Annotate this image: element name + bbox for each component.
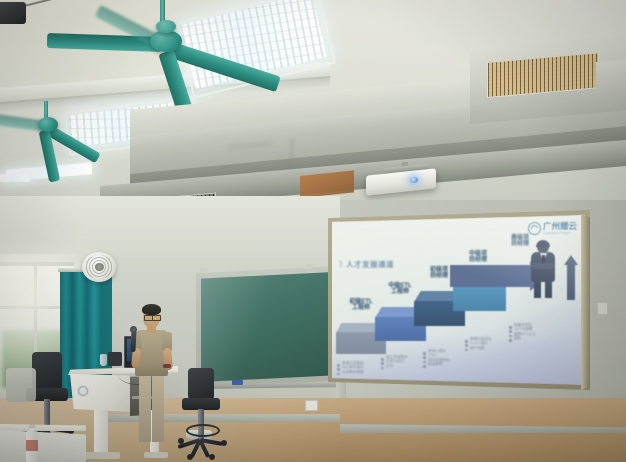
up-arrow-shaft (567, 264, 575, 300)
projector-lens-indicator (410, 177, 418, 183)
classroom-scene: 广州耀云 Guangzhou Yaoyun 》 人才发展通道 初级ETL工程师 … (0, 0, 626, 462)
up-arrow-icon (563, 255, 579, 301)
lectern-foot-right (144, 452, 168, 458)
silhouette-arms (531, 263, 555, 269)
silhouette-leg-left (534, 281, 541, 298)
chalkboard-clip-right (306, 264, 313, 269)
bullet-item: 交付 (386, 364, 422, 368)
chair-left-post (44, 399, 50, 427)
chair-right-caster (187, 454, 193, 460)
businessman-silhouette-icon (525, 241, 561, 299)
presenter-hair (142, 304, 161, 315)
right-arrow-shaft (450, 265, 532, 287)
slide-logo-cn: 广州耀云 (543, 222, 577, 231)
floor-bag (6, 368, 36, 402)
chair-right-caster (209, 454, 215, 460)
bullet-column-5: 统筹多项目 10个月周期 管理10人以上 团队 (514, 323, 554, 341)
chair-right-caster (178, 438, 184, 444)
bullet-column-2: 独立完成模块 开发与测试 交付 (386, 355, 422, 368)
chair-left-backrest (32, 352, 62, 390)
bullet-item: 客户对接 (470, 346, 506, 350)
bullet-column-4: 管理中型项目 5-10人团队 客户对接 (470, 337, 506, 350)
slide-logo-en: Guangzhou Yaoyun (543, 232, 577, 235)
water-bottle-label (26, 440, 38, 451)
silhouette-hair (536, 240, 550, 247)
step-1-label: 初级ETL工程师 (338, 299, 384, 312)
chalkboard-clip-left (200, 268, 207, 273)
bullet-item: 团队 (514, 336, 554, 340)
presenter-wristwatch (163, 364, 171, 368)
lectern-equipment-box (108, 352, 122, 366)
office-chair-right (180, 368, 242, 462)
projection-screen: 广州耀云 Guangzhou Yaoyun 》 人才发展通道 初级ETL工程师 … (332, 215, 585, 385)
ceiling-fan-front-blade-1 (47, 33, 162, 52)
microphone-head (130, 326, 137, 333)
slide-title-marker: 》 (339, 259, 346, 269)
bullet-item: 业务需求理解 (342, 370, 378, 374)
step-2-label: 中级ETL工程师 (377, 283, 423, 296)
swirl-logo-inner (530, 224, 540, 234)
lectern-cup (100, 354, 107, 366)
wall-mounted-fan (82, 252, 120, 286)
slide-content: 广州耀云 Guangzhou Yaoyun 》 人才发展通道 初级ETL工程师 … (332, 215, 585, 385)
wall-fan-hub (95, 263, 104, 271)
wall-upper-band (0, 196, 340, 258)
chair-right-backrest (188, 368, 214, 400)
ceiling-fan-front-hub (150, 30, 182, 52)
presenter-leg-left (139, 370, 151, 442)
lectern-logo (78, 386, 90, 396)
projector-body (366, 168, 436, 195)
chair-right-footring (186, 424, 220, 437)
presenter-glasses (152, 315, 161, 321)
ac-duct-extension (596, 59, 626, 102)
silhouette-tie (542, 255, 545, 263)
slide-title: 人才发展通道 (346, 259, 394, 270)
swirl-logo-icon (528, 222, 541, 235)
bullet-column-1: 数据开发基础 SQL脚本编写 业务需求理解 (342, 361, 378, 374)
chalkboard-sheen (201, 272, 333, 382)
slide-logo: 广州耀云 Guangzhou Yaoyun (528, 222, 577, 235)
chair-right-base (200, 438, 202, 440)
bullet-item: 质量管理 (428, 362, 464, 366)
chair-right-caster (221, 440, 227, 446)
water-bottle (26, 424, 38, 462)
ceiling-fan-front-cap (156, 20, 176, 33)
silhouette-leg-right (545, 281, 552, 298)
lectern-column (94, 410, 108, 454)
screen-frame-right-edge (581, 214, 590, 390)
presenter (126, 304, 178, 444)
ceiling-projector (366, 170, 440, 204)
student-desk-foreground (0, 430, 86, 462)
ceiling-fan-rear-hub (38, 117, 58, 132)
bullet-column-3: 带领小团队 3-5人 项目进度把控 质量管理 (428, 349, 464, 367)
lectern-logo-icon (78, 386, 88, 396)
wall-outlet (305, 400, 318, 411)
presenter-leg-right (152, 370, 164, 442)
wall-plate-right (597, 302, 608, 315)
lectern-foot (84, 452, 120, 459)
ceiling-fan-front-rod (160, 0, 165, 22)
